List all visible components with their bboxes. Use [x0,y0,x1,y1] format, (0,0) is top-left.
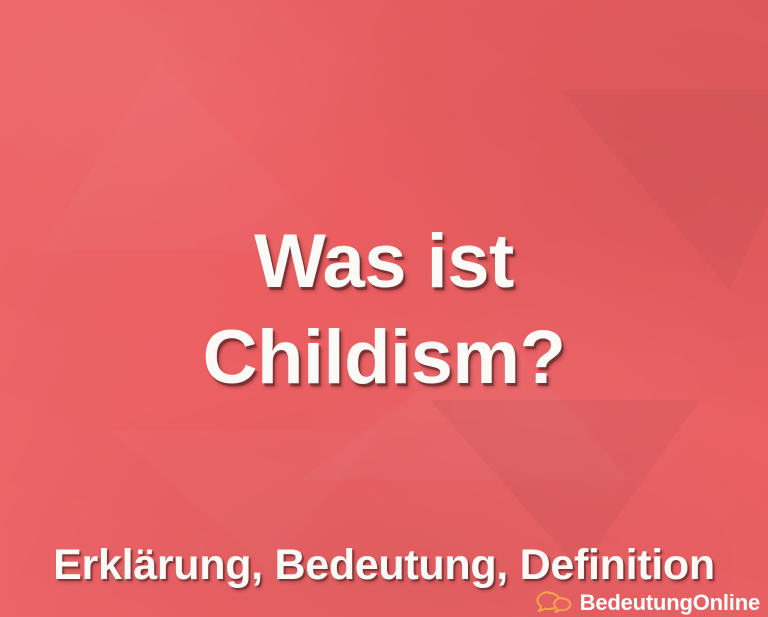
subtitle: Erklärung, Bedeutung, Definition [0,540,768,590]
headline-line-1: Was ist [0,214,768,310]
poster-canvas: Was ist Childism? Erklärung, Bedeutung, … [0,0,768,617]
brand-watermark: BedeutungOnline [534,590,760,615]
brand-name: BedeutungOnline [580,590,760,615]
speech-bubbles-icon [534,590,574,615]
headline-line-2: Childism? [0,310,768,406]
headline: Was ist Childism? [0,214,768,406]
